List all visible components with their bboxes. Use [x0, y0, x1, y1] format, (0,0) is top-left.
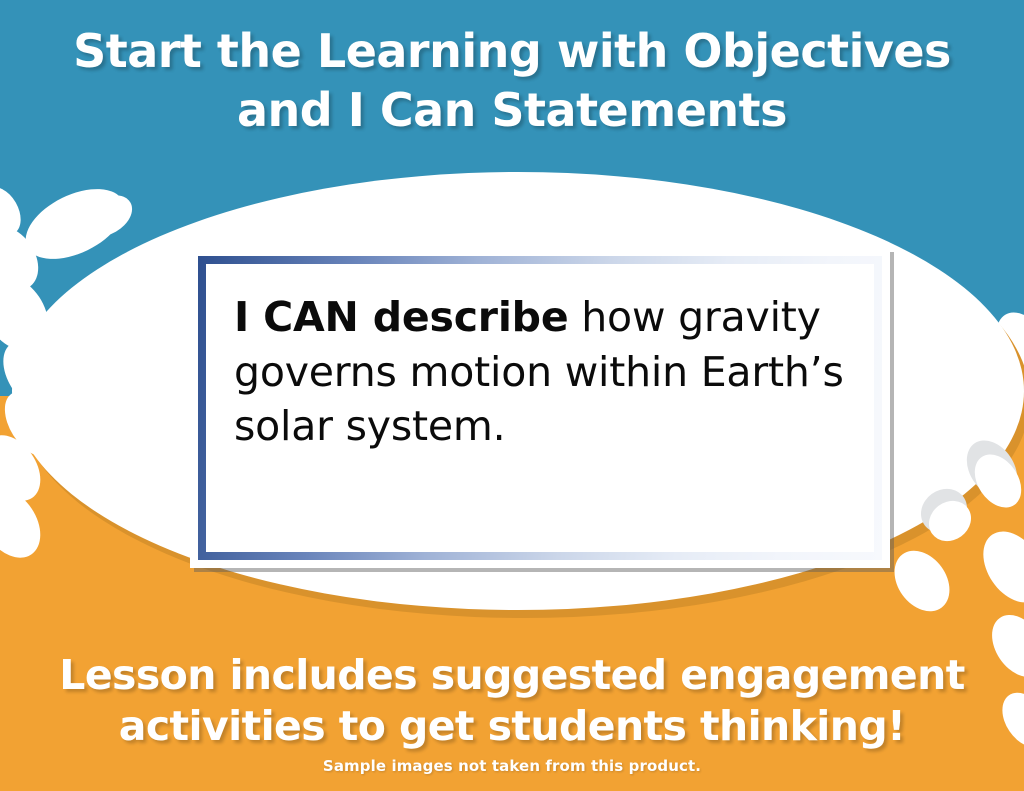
headline-line-2: and I Can Statements: [0, 81, 1024, 140]
card-lead-text: I CAN describe: [234, 293, 568, 341]
card-outer-frame: I CAN describe how gravity governs motio…: [190, 248, 890, 568]
headline-line-1: Start the Learning with Objectives: [73, 24, 951, 78]
card-inner-surface: I CAN describe how gravity governs motio…: [206, 264, 874, 552]
slide-headline: Start the Learning with Objectives and I…: [0, 22, 1024, 140]
footer-disclaimer: Sample images not taken from this produc…: [0, 757, 1024, 775]
footer-line-1: Lesson includes suggested engagement: [59, 651, 964, 699]
i-can-statement-card: I CAN describe how gravity governs motio…: [190, 248, 890, 568]
slide-footer: Lesson includes suggested engagement act…: [0, 650, 1024, 775]
slide-canvas: I CAN describe how gravity governs motio…: [0, 0, 1024, 791]
footer-line-2: activities to get students thinking!: [0, 701, 1024, 752]
footer-headline: Lesson includes suggested engagement act…: [0, 650, 1024, 753]
card-body-text: I CAN describe how gravity governs motio…: [234, 290, 846, 454]
card-gradient-border: I CAN describe how gravity governs motio…: [198, 256, 882, 560]
